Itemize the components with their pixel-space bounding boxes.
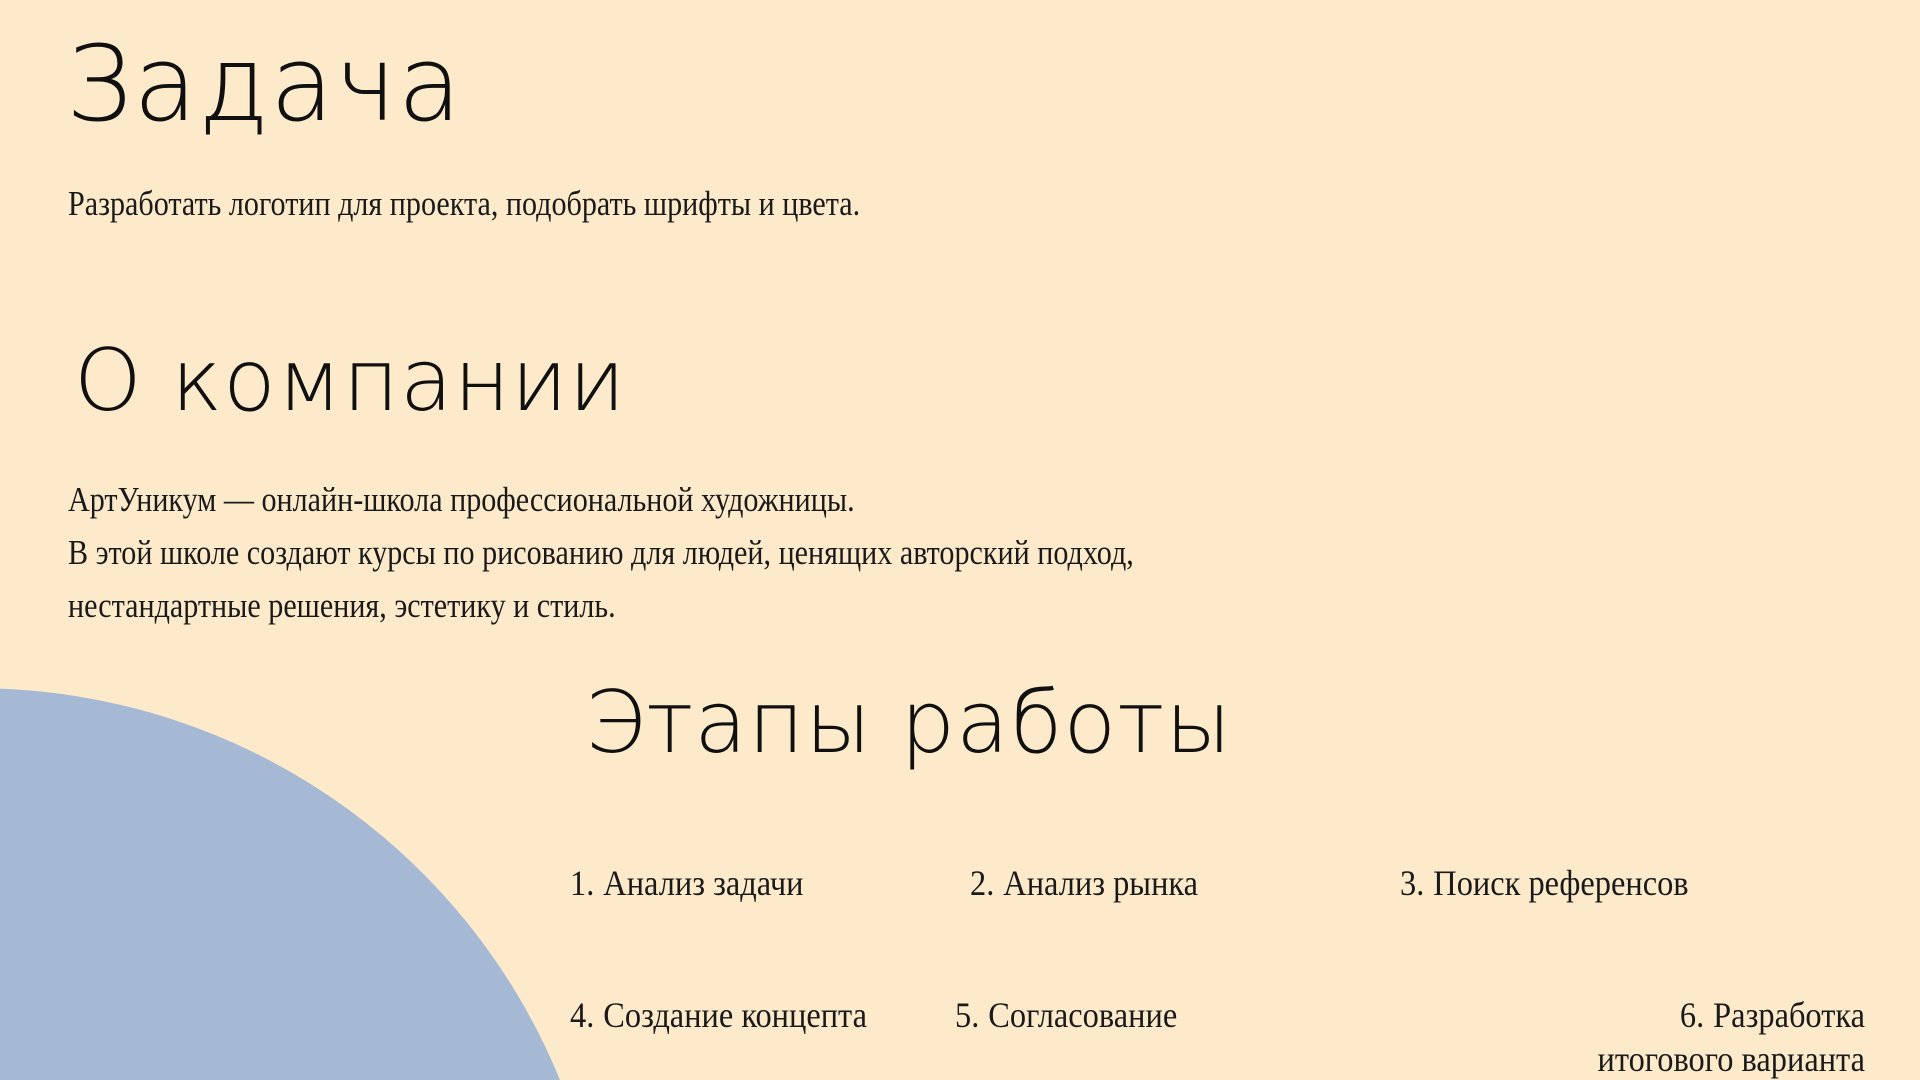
stages-section-title: Этапы работы [585, 680, 1232, 766]
stage-label: Поиск референсов [1433, 863, 1688, 903]
about-line: В этой школе создают курсы по рисованию … [68, 535, 1134, 570]
stage-label: Анализ задачи [603, 863, 803, 903]
slide-content: Задача Разработать логотип для проекта, … [0, 0, 1920, 1080]
stage-item: 1.Анализ задачи [570, 818, 930, 906]
stage-label: Анализ рынка [1003, 863, 1198, 903]
stage-item: 5.Согласование [955, 950, 1324, 1038]
about-line: АртУникум — онлайн-школа профессионально… [68, 482, 1134, 517]
stage-label: Создание концепта [603, 995, 867, 1035]
presentation-slide: Задача Разработать логотип для проекта, … [0, 0, 1920, 1080]
stage-number: 1. [570, 863, 594, 903]
stages-row: 1.Анализ задачи 2.Анализ рынка 3.Поиск р… [570, 818, 1900, 906]
stages-row: 4.Создание концепта 5.Согласование 6.Раз… [570, 950, 1900, 1080]
stages-list: 1.Анализ задачи 2.Анализ рынка 3.Поиск р… [570, 818, 1900, 1080]
stage-item: 3.Поиск референсов [1400, 818, 1823, 906]
stage-number: 6. [1680, 995, 1704, 1035]
stage-label: Согласование [988, 995, 1177, 1035]
stage-number: 3. [1400, 863, 1424, 903]
stage-item: 6.Разработка итогового варианта [1415, 950, 1865, 1080]
about-line: нестандартные решения, эстетику и стиль. [68, 588, 1134, 623]
task-section-title: Задача [66, 32, 463, 136]
about-section-body: АртУникум — онлайн-школа профессионально… [68, 482, 1307, 623]
stage-item: 4.Создание концепта [570, 950, 917, 1038]
about-section-title: О компании [74, 338, 626, 424]
stage-number: 2. [970, 863, 994, 903]
stage-label: Разработка итогового варианта [1598, 995, 1865, 1079]
stage-item: 2.Анализ рынка [970, 818, 1357, 906]
task-section-description: Разработать логотип для проекта, подобра… [68, 186, 860, 221]
stage-number: 4. [570, 995, 594, 1035]
stage-number: 5. [955, 995, 979, 1035]
